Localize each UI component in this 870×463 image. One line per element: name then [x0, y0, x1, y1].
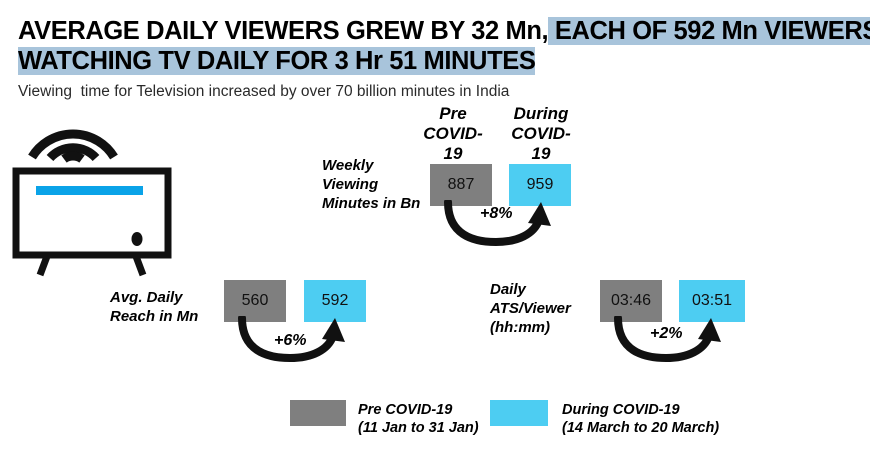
stat-label-daily-ats: Daily ATS/Viewer (hh:mm) [490, 280, 610, 337]
stat-label-avg-daily-reach: Avg. Daily Reach in Mn [110, 288, 230, 326]
delta-avg-daily-reach: +6% [274, 332, 306, 350]
legend-swatch-during-covid [490, 400, 548, 426]
headline-line-2-highlight: WATCHING TV DAILY FOR 3 Hr 51 MINUTES [18, 47, 535, 75]
subtitle: Viewing time for Television increased by… [18, 83, 509, 101]
legend-label-during-covid: During COVID-19 (14 March to 20 March) [562, 401, 772, 437]
headline-line-1: AVERAGE DAILY VIEWERS GREW BY 32 Mn, EAC… [18, 16, 863, 46]
infographic-canvas: AVERAGE DAILY VIEWERS GREW BY 32 Mn, EAC… [0, 0, 870, 463]
stat-label-weekly-viewing: Weekly Viewing Minutes in Bn [322, 156, 432, 213]
headline-block: AVERAGE DAILY VIEWERS GREW BY 32 Mn, EAC… [18, 16, 863, 76]
television-with-wifi-icon [4, 103, 184, 278]
column-header-during-covid: During COVID- 19 [500, 104, 582, 164]
column-header-pre-covid: Pre COVID- 19 [414, 104, 492, 164]
headline-line-1-highlight: EACH OF 592 Mn VIEWERS [548, 17, 870, 45]
headline-line-2: WATCHING TV DAILY FOR 3 Hr 51 MINUTES [18, 46, 863, 76]
headline-line-1-plain: AVERAGE DAILY VIEWERS GREW BY 32 Mn, [18, 17, 548, 45]
delta-weekly-viewing: +8% [480, 205, 512, 223]
legend-swatch-pre-covid [290, 400, 346, 426]
delta-daily-ats: +2% [650, 325, 682, 343]
